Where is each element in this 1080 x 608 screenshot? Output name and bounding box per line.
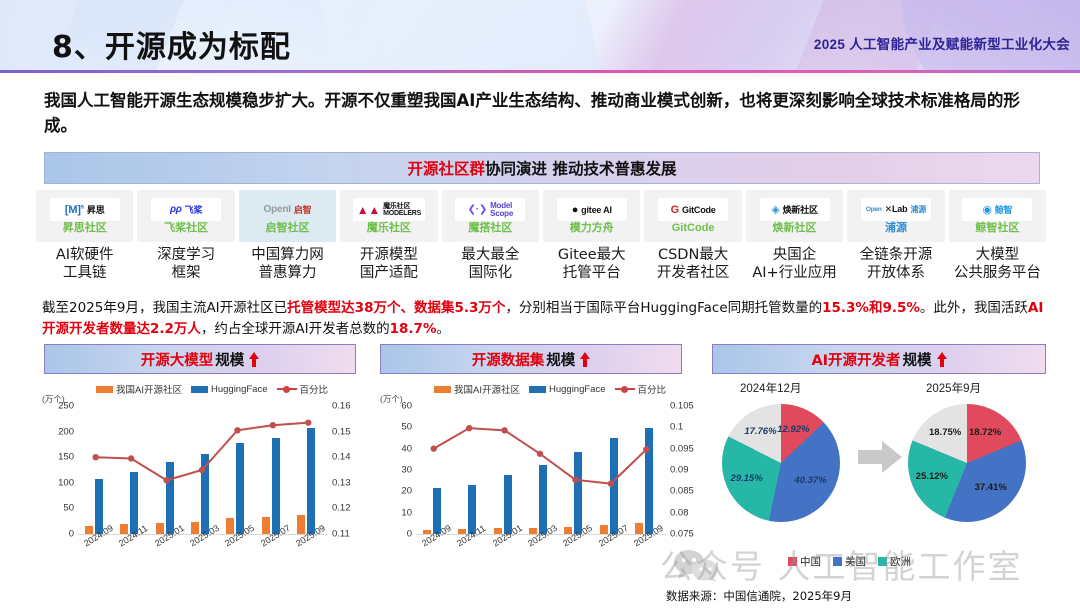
community-desc: 大模型 公共服务平台	[949, 246, 1046, 282]
y-tick-right: 0.16	[332, 401, 351, 412]
y-tick-right: 0.15	[332, 426, 351, 437]
jingzhi-logo: ◉鲸智	[962, 198, 1032, 221]
modelscope-logo: ❮·❯ModelScope	[455, 198, 525, 221]
y-tick: 100	[58, 477, 74, 488]
y-axis-right: 0.0750.080.0850.090.0950.10.105	[670, 406, 714, 534]
chart-plot-area	[78, 406, 326, 534]
community-chip: GGitCodeGitCode	[644, 190, 741, 242]
y-tick-right: 0.11	[332, 529, 350, 540]
pill-1-red: 开源大模型	[141, 349, 214, 370]
pie-chart-2	[908, 404, 1026, 522]
community-card-1[interactable]: [M]s昇思昇思社区AI软硬件 工具链	[36, 190, 133, 282]
conference-name: 2025 人工智能产业及赋能新型工业化大会	[814, 33, 1070, 53]
community-chip: Open✕Lab浦源浦源	[847, 190, 944, 242]
community-card-8[interactable]: ◈焕新社区焕新社区央国企 AI+行业应用	[746, 190, 843, 282]
community-name: 焕新社区	[773, 222, 817, 234]
community-name: GitCode	[672, 222, 715, 234]
community-name: 魔搭社区	[468, 222, 512, 234]
openi-logo: OpenI启智	[253, 198, 323, 221]
y-tick-right: 0.1	[670, 422, 683, 433]
community-card-7[interactable]: GGitCodeGitCodeCSDN最大 开发者社区	[644, 190, 741, 282]
community-card-10[interactable]: ◉鲸智鲸智社区大模型 公共服务平台	[949, 190, 1046, 282]
chart-title-open-source-datasets: 开源数据集规模	[380, 344, 682, 374]
pill-3-rest: 规模	[903, 349, 932, 370]
y-tick: 30	[401, 465, 412, 476]
banner-rest: 协同演进 推动技术普惠发展	[485, 157, 676, 179]
community-desc: 中国算力网 普惠算力	[239, 246, 336, 282]
source-note: 数据来源：中国信通院，2025年9月	[666, 588, 852, 604]
community-desc: Gitee最大 托管平台	[543, 246, 640, 282]
chart-title-open-source-models: 开源大模型规模	[44, 344, 356, 374]
community-card-9[interactable]: Open✕Lab浦源浦源全链条开源 开放体系	[847, 190, 944, 282]
pill-3-red: AI开源开发者	[811, 349, 900, 370]
stats-text-2: ，分别相当于国际平台HuggingFace同期托管数量的	[505, 300, 822, 316]
stats-highlight-4: 18.7%	[390, 321, 437, 337]
y-tick: 200	[58, 426, 74, 437]
community-card-6[interactable]: ●gitee AI模力方舟Gitee最大 托管平台	[543, 190, 640, 282]
community-desc: 央国企 AI+行业应用	[746, 246, 843, 282]
chart-unit-label: (万个)	[380, 393, 403, 405]
stats-text-1: 截至2025年9月，我国主流AI开源社区已	[42, 300, 287, 316]
gitcode-logo: GGitCode	[658, 198, 728, 221]
y-tick: 50	[63, 503, 74, 514]
watermark-text: 公众号 人工智能工作室	[660, 540, 1023, 588]
chart-title-ai-developers: AI开源开发者规模	[712, 344, 1046, 374]
y-tick-right: 0.09	[670, 465, 689, 476]
community-desc: AI软硬件 工具链	[36, 246, 133, 282]
section-banner: 开源社区群协同演进 推动技术普惠发展	[44, 152, 1040, 184]
y-axis-left: 0102030405060	[378, 406, 412, 534]
pie-slice-label: 18.75%	[929, 427, 961, 438]
transition-arrow-icon	[858, 440, 902, 474]
community-chip: ◈焕新社区焕新社区	[746, 190, 843, 242]
community-chip: ●gitee AI模力方舟	[543, 190, 640, 242]
y-tick-right: 0.12	[332, 503, 351, 514]
chart-legend: 我国AI开源社区HuggingFace百分比	[96, 382, 328, 396]
y-axis-left: 050100150200250	[40, 406, 74, 534]
legend-item-domestic: 我国AI开源社区	[434, 382, 520, 396]
community-desc: 开源模型 国产适配	[340, 246, 437, 282]
community-chip: ρρ飞桨飞桨社区	[137, 190, 234, 242]
legend-swatch-line	[277, 385, 297, 393]
community-card-3[interactable]: OpenI启智启智社区中国算力网 普惠算力	[239, 190, 336, 282]
community-name: 模力方舟	[570, 222, 614, 234]
legend-swatch-orange	[96, 386, 113, 393]
chart-plot-area	[416, 406, 664, 534]
y-tick-right: 0.095	[670, 443, 694, 454]
pie-slice-label: 25.12%	[916, 471, 948, 482]
percentage-line-series	[78, 406, 326, 534]
openxlab-logo: Open✕Lab浦源	[861, 198, 931, 221]
y-tick: 150	[58, 452, 74, 463]
y-tick-right: 0.085	[670, 486, 694, 497]
header-decoration-3	[315, 0, 605, 72]
banner-highlight: 开源社区群	[408, 157, 486, 179]
community-card-5[interactable]: ❮·❯ModelScope魔搭社区最大最全 国际化	[442, 190, 539, 282]
legend-item-huggingface: HuggingFace	[191, 384, 268, 395]
community-card-2[interactable]: ρρ飞桨飞桨社区深度学习 框架	[137, 190, 234, 282]
pie-panel-title: 2024年12月	[740, 380, 801, 396]
y-tick: 10	[401, 507, 412, 518]
huanxin-logo: ◈焕新社区	[760, 198, 830, 221]
stats-text-4: ，约占全球开源AI开发者总数的	[201, 321, 390, 337]
paddlepaddle-logo: ρρ飞桨	[151, 198, 221, 221]
pie-slice-label: 12.92%	[777, 424, 809, 435]
pie-slice-label: 29.15%	[731, 473, 763, 484]
pill-1-rest: 规模	[215, 349, 244, 370]
community-name: 魔乐社区	[367, 222, 411, 234]
pie-slice-label: 37.41%	[975, 482, 1007, 493]
pie-slice-label: 18.72%	[969, 427, 1001, 438]
community-chip: ❮·❯ModelScope魔搭社区	[442, 190, 539, 242]
mindspore-logo: [M]s昇思	[50, 198, 120, 221]
y-tick-right: 0.13	[332, 477, 351, 488]
bar-chart-open-source-models: 我国AI开源社区HuggingFace百分比(万个)05010015020025…	[40, 380, 376, 580]
community-name: 昇思社区	[63, 222, 107, 234]
page-title: 8、开源成为标配	[52, 22, 291, 66]
legend-item-huggingface: HuggingFace	[529, 384, 606, 395]
legend-item-percentage: 百分比	[615, 382, 667, 396]
stats-paragraph: 截至2025年9月，我国主流AI开源社区已托管模型达38万个、数据集5.3万个，…	[42, 298, 1047, 340]
stats-text-3: 。此外，我国活跃	[920, 300, 1028, 316]
lead-paragraph: 我国人工智能开源生态规模稳步扩大。开源不仅重塑我国AI产业生态结构、推动商业模式…	[44, 88, 1044, 138]
y-tick: 0	[407, 529, 412, 540]
community-chip: ◉鲸智鲸智社区	[949, 190, 1046, 242]
gitee-logo: ●gitee AI	[557, 198, 627, 221]
y-tick: 60	[401, 401, 412, 412]
arrow-up-icon	[249, 352, 259, 367]
pie-slice-label: 40.37%	[794, 475, 826, 486]
stats-highlight-2: 15.3%和9.5%	[822, 300, 920, 316]
pill-2-rest: 规模	[546, 349, 575, 370]
header-divider	[0, 70, 1080, 73]
legend-swatch-blue	[191, 386, 208, 393]
community-chip: OpenI启智启智社区	[239, 190, 336, 242]
community-card-4[interactable]: ▲▲魔乐社区MODELERS魔乐社区开源模型 国产适配	[340, 190, 437, 282]
arrow-up-icon	[580, 352, 590, 367]
y-tick: 250	[58, 401, 74, 412]
y-tick-right: 0.075	[670, 529, 694, 540]
y-tick-right: 0.14	[332, 452, 351, 463]
community-chip: ▲▲魔乐社区MODELERS魔乐社区	[340, 190, 437, 242]
y-tick: 40	[401, 443, 412, 454]
legend-swatch-orange	[434, 386, 451, 393]
arrow-up-icon	[937, 352, 947, 367]
community-desc: 最大最全 国际化	[442, 246, 539, 282]
legend-item-domestic: 我国AI开源社区	[96, 382, 182, 396]
slide-header: 8、开源成为标配 2025 人工智能产业及赋能新型工业化大会	[0, 0, 1080, 72]
y-axis-right: 0.110.120.130.140.150.16	[332, 406, 376, 534]
legend-swatch-blue	[529, 386, 546, 393]
stats-highlight-1: 托管模型达38万个、数据集5.3万个	[287, 300, 505, 316]
chart-legend: 我国AI开源社区HuggingFace百分比	[434, 382, 666, 396]
community-chip: [M]s昇思昇思社区	[36, 190, 133, 242]
modelers-logo: ▲▲魔乐社区MODELERS	[353, 198, 425, 221]
stats-text-5: 。	[436, 321, 450, 337]
community-name: 鲸智社区	[975, 222, 1019, 234]
community-desc: 全链条开源 开放体系	[847, 246, 944, 282]
pie-slice-label: 17.76%	[744, 426, 776, 437]
y-tick-right: 0.105	[670, 401, 694, 412]
legend-item-percentage: 百分比	[277, 382, 329, 396]
legend-swatch-line	[615, 385, 635, 393]
community-name: 浦源	[885, 222, 907, 234]
y-tick-right: 0.08	[670, 507, 689, 518]
y-tick: 50	[401, 422, 412, 433]
community-card-row: [M]s昇思昇思社区AI软硬件 工具链ρρ飞桨飞桨社区深度学习 框架OpenI启…	[36, 190, 1046, 282]
y-tick: 0	[69, 529, 74, 540]
pie-chart-1	[722, 404, 840, 522]
percentage-line-series	[416, 406, 664, 534]
community-desc: 深度学习 框架	[137, 246, 234, 282]
pie-panel-title: 2025年9月	[926, 380, 981, 396]
y-tick: 20	[401, 486, 412, 497]
community-name: 启智社区	[266, 222, 310, 234]
community-desc: CSDN最大 开发者社区	[644, 246, 741, 282]
community-name: 飞桨社区	[164, 222, 208, 234]
pill-2-red: 开源数据集	[472, 349, 545, 370]
